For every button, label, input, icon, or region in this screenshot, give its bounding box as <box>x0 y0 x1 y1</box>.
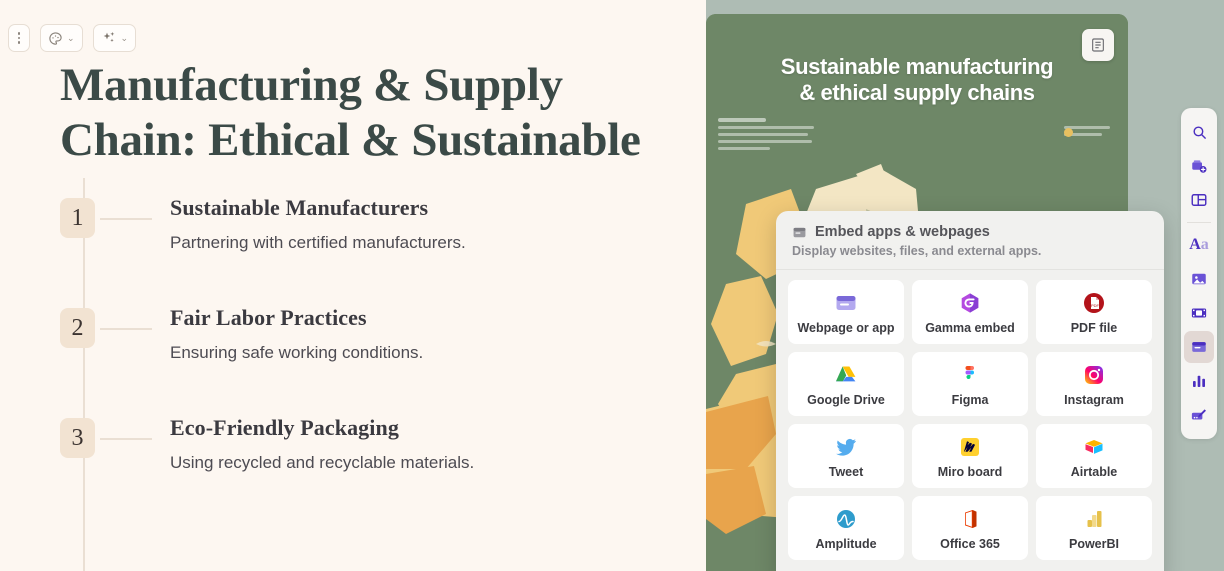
palette-icon <box>48 31 63 46</box>
embed-tile-label: Figma <box>952 393 989 407</box>
video-icon <box>1190 304 1208 322</box>
embed-tile-amplitude[interactable]: Amplitude <box>788 496 904 560</box>
step-title: Fair Labor Practices <box>170 305 367 331</box>
popup-header: Embed apps & webpages Display websites, … <box>776 211 1164 270</box>
office365-icon <box>957 506 983 532</box>
slide-heading: Sustainable manufacturing & ethical supp… <box>706 54 1128 107</box>
toolbar-divider <box>1187 222 1211 223</box>
editor-pane: ⌄ ⌄ Manufacturing & Supply Chain: Ethica… <box>0 0 706 571</box>
step-number-badge: 1 <box>60 198 95 238</box>
google-drive-icon <box>833 362 859 388</box>
step-title: Sustainable Manufacturers <box>170 195 428 221</box>
powerbi-icon <box>1081 506 1107 532</box>
embed-tile-label: Airtable <box>1071 465 1118 479</box>
embed-tiles-grid: Webpage or app Gamma embed <box>776 270 1164 570</box>
webpage-icon <box>833 290 859 316</box>
step-title: Eco-Friendly Packaging <box>170 415 399 441</box>
airtable-icon <box>1081 434 1107 460</box>
embed-tile-instagram[interactable]: Instagram <box>1036 352 1152 416</box>
embed-button[interactable] <box>1184 331 1214 363</box>
embed-tile-label: Office 365 <box>940 537 1000 551</box>
slide-heading-line-1: Sustainable manufacturing <box>706 54 1128 80</box>
popup-title: Embed apps & webpages <box>815 224 990 240</box>
app-root: ⌄ ⌄ Manufacturing & Supply Chain: Ethica… <box>0 0 1224 571</box>
step-description: Ensuring safe working conditions. <box>170 343 423 363</box>
search-icon <box>1191 124 1208 141</box>
embed-tile-label: Amplitude <box>815 537 876 551</box>
page-title-line-1: Manufacturing & Supply <box>60 58 660 113</box>
embed-tile-figma[interactable]: Figma <box>912 352 1028 416</box>
embed-tile-label: Tweet <box>829 465 864 479</box>
top-toolbar: ⌄ ⌄ <box>8 24 136 52</box>
step-number-badge: 3 <box>60 418 95 458</box>
twitter-icon <box>833 434 859 460</box>
list-item[interactable]: 2 Fair Labor Practices Ensuring safe wor… <box>60 288 660 398</box>
layout-icon <box>1190 191 1208 209</box>
chevron-down-icon: ⌄ <box>121 34 129 43</box>
figma-icon <box>957 362 983 388</box>
popup-subtitle: Display websites, files, and external ap… <box>792 244 1148 258</box>
search-button[interactable] <box>1184 116 1214 148</box>
map-legend-top-right <box>1064 126 1128 140</box>
image-icon <box>1190 270 1208 288</box>
draw-icon <box>1190 406 1208 424</box>
image-button[interactable] <box>1184 263 1214 295</box>
step-description: Using recycled and recyclable materials. <box>170 453 474 473</box>
list-item[interactable]: 3 Eco-Friendly Packaging Using recycled … <box>60 398 660 508</box>
more-options-button[interactable] <box>8 24 30 52</box>
text-button[interactable]: Aa <box>1184 229 1214 261</box>
embed-icon <box>1190 338 1208 356</box>
chart-icon <box>1190 372 1208 390</box>
draw-button[interactable] <box>1184 399 1214 431</box>
slide-heading-line-2: & ethical supply chains <box>706 80 1128 106</box>
embed-tile-label: PDF file <box>1071 321 1118 335</box>
embed-tile-label: Webpage or app <box>797 321 894 335</box>
embed-tile-pdf-file[interactable]: PDF PDF file <box>1036 280 1152 344</box>
slide-notes-button[interactable] <box>1082 29 1114 61</box>
timeline-list: 1 Sustainable Manufacturers Partnering w… <box>60 178 660 508</box>
timeline-connector <box>100 328 152 330</box>
layout-button[interactable] <box>1184 184 1214 216</box>
embed-tile-gamma-embed[interactable]: Gamma embed <box>912 280 1028 344</box>
embed-tile-powerbi[interactable]: PowerBI <box>1036 496 1152 560</box>
text-icon: Aa <box>1189 236 1209 254</box>
embed-tile-label: Instagram <box>1064 393 1124 407</box>
embed-tile-label: Google Drive <box>807 393 885 407</box>
add-card-button[interactable] <box>1184 150 1214 182</box>
gamma-icon <box>957 290 983 316</box>
embed-tile-webpage-or-app[interactable]: Webpage or app <box>788 280 904 344</box>
embed-icon <box>792 225 807 240</box>
embed-apps-popup: Embed apps & webpages Display websites, … <box>776 211 1164 571</box>
insert-toolbar: Aa <box>1181 108 1217 439</box>
more-vertical-icon <box>18 32 21 44</box>
amplitude-icon <box>833 506 859 532</box>
video-button[interactable] <box>1184 297 1214 329</box>
list-item[interactable]: 1 Sustainable Manufacturers Partnering w… <box>60 178 660 288</box>
embed-tile-label: Miro board <box>938 465 1003 479</box>
page-title-line-2: Chain: Ethical & Sustainable <box>60 113 660 168</box>
timeline-connector <box>100 218 152 220</box>
chevron-down-icon: ⌄ <box>67 34 75 43</box>
sparkles-icon <box>101 30 117 46</box>
map-legend-left <box>718 118 818 154</box>
slide-stage: Sustainable manufacturing & ethical supp… <box>706 0 1224 571</box>
ai-tools-button[interactable]: ⌄ <box>93 24 137 52</box>
popup-title-row: Embed apps & webpages <box>792 224 1148 240</box>
page-title: Manufacturing & Supply Chain: Ethical & … <box>60 58 660 169</box>
step-description: Partnering with certified manufacturers. <box>170 233 466 253</box>
svg-text:PDF: PDF <box>1091 303 1100 308</box>
instagram-icon <box>1081 362 1107 388</box>
embed-tile-miro-board[interactable]: Miro board <box>912 424 1028 488</box>
embed-tile-google-drive[interactable]: Google Drive <box>788 352 904 416</box>
embed-tile-airtable[interactable]: Airtable <box>1036 424 1152 488</box>
theme-button[interactable]: ⌄ <box>40 24 83 52</box>
embed-tile-tweet[interactable]: Tweet <box>788 424 904 488</box>
embed-tile-office-365[interactable]: Office 365 <box>912 496 1028 560</box>
timeline-connector <box>100 438 152 440</box>
add-card-icon <box>1190 157 1208 175</box>
step-number-badge: 2 <box>60 308 95 348</box>
notes-icon <box>1090 37 1106 53</box>
miro-icon <box>957 434 983 460</box>
embed-tile-label: Gamma embed <box>925 321 1015 335</box>
chart-button[interactable] <box>1184 365 1214 397</box>
embed-tile-label: PowerBI <box>1069 537 1119 551</box>
pdf-icon: PDF <box>1081 290 1107 316</box>
